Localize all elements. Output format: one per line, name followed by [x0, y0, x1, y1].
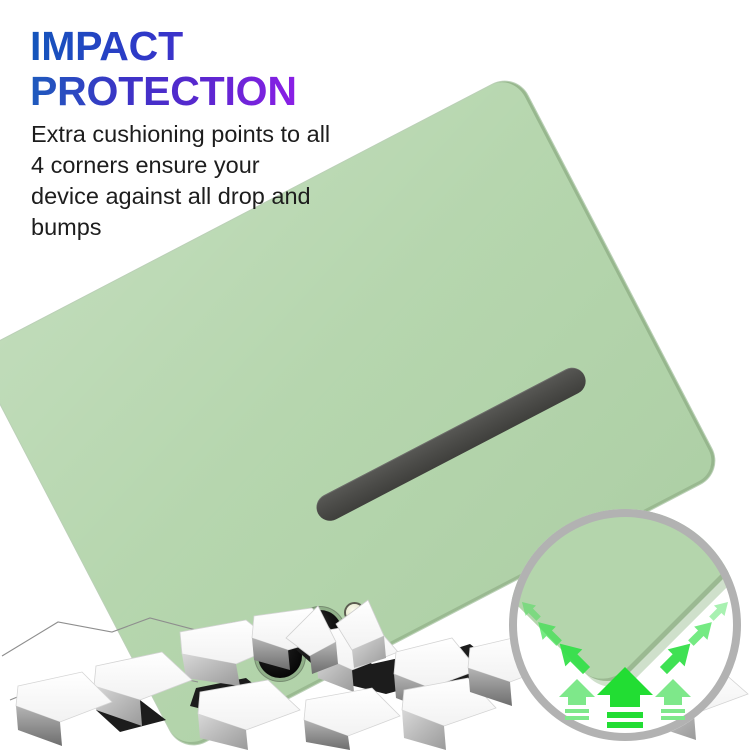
headline-line-1: IMPACT — [30, 24, 390, 69]
magnifier-disc — [509, 509, 741, 741]
body-copy-text: Extra cushioning points to all 4 corners… — [31, 119, 331, 243]
diagonal-arrows-right — [655, 597, 733, 679]
diagonal-arrows-left — [517, 597, 595, 679]
cushioning-arrows-group — [509, 509, 741, 741]
up-arrow-right — [655, 679, 691, 720]
up-arrow-center — [597, 667, 653, 728]
page-title: IMPACT PROTECTION — [30, 24, 390, 114]
up-arrow-left — [559, 679, 595, 720]
magnifier-callout — [500, 500, 750, 750]
product-marketing-image: IMPACT PROTECTION Extra cushioning point… — [0, 0, 750, 750]
headline-line-2: PROTECTION — [30, 69, 390, 114]
